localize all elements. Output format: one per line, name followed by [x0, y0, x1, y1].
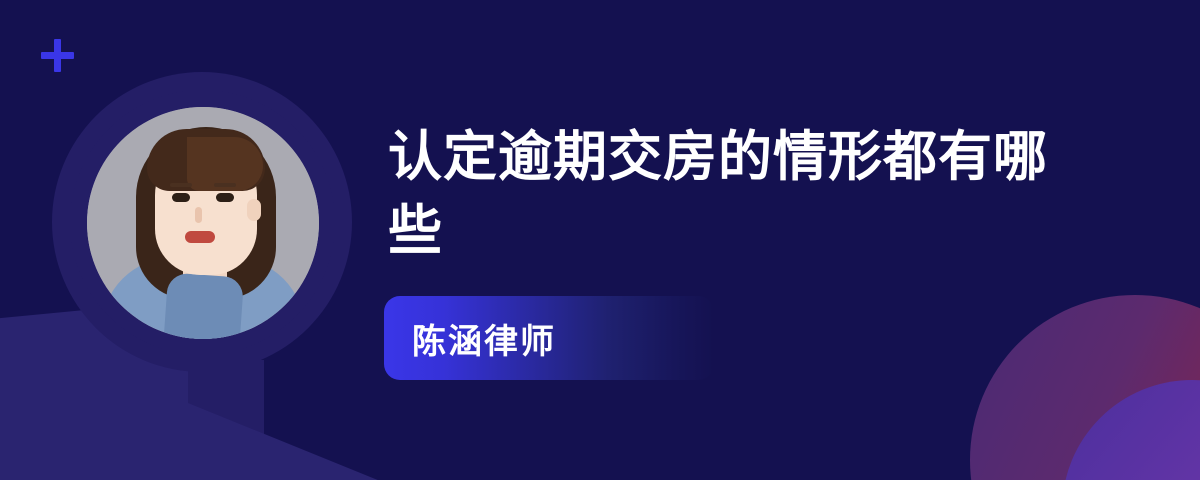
avatar-nose [195, 207, 202, 223]
avatar-lapel [161, 272, 243, 339]
lawyer-article-banner: 认定逾期交房的情形都有哪些 陈涵律师 [0, 0, 1200, 480]
decorative-orb-outer [970, 295, 1200, 480]
decorative-triangle [150, 395, 390, 480]
avatar [70, 90, 335, 355]
avatar-brow-right [214, 183, 236, 187]
page-title: 认定逾期交房的情形都有哪些 [388, 120, 1088, 268]
avatar-brow-left [170, 183, 192, 187]
plus-icon [41, 39, 74, 72]
lawyer-name-badge[interactable]: 陈涵律师 [384, 296, 714, 380]
decorative-column [188, 360, 264, 480]
decorative-orb-inner [1062, 380, 1200, 480]
lawyer-name-label: 陈涵律师 [384, 314, 556, 363]
avatar-eye-right [216, 193, 234, 202]
avatar-photo [87, 107, 319, 339]
avatar-eye-left [172, 193, 190, 202]
avatar-ear [247, 199, 261, 221]
avatar-lips [185, 231, 215, 243]
